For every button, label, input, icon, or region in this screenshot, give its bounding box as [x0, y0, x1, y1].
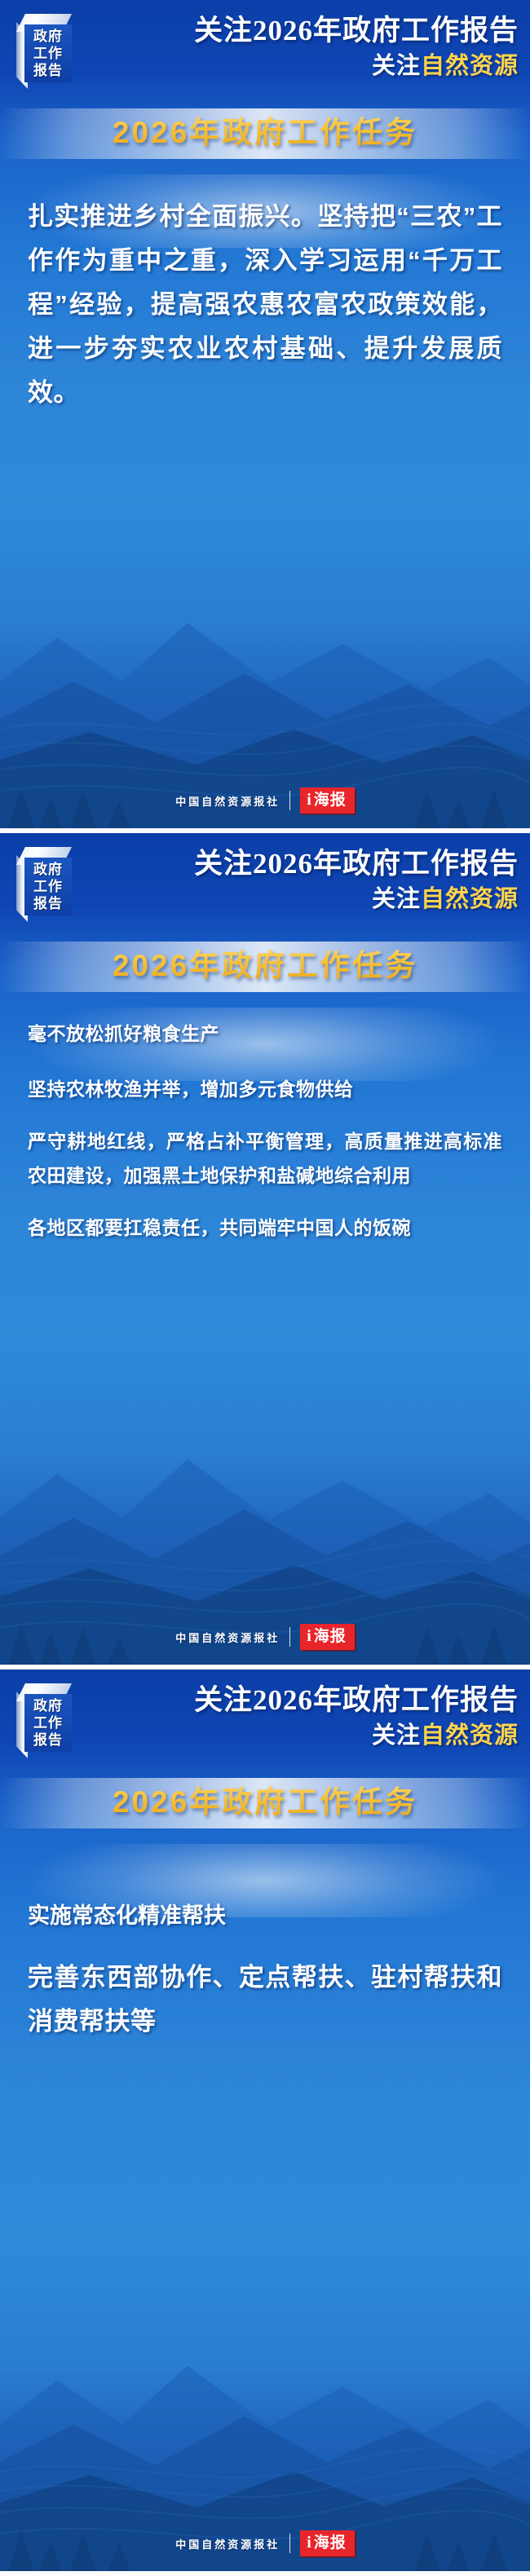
footer-divider: [289, 791, 290, 810]
subtitle-prefix: 关注: [372, 53, 421, 79]
body-paragraph: 严守耕地红线，严格占补平衡管理，高质量推进高标准农田建设，加强黑土地保护和盐碱地…: [28, 1124, 502, 1193]
poster-body-3: 实施常态化精准帮扶 完善东西部协作、定点帮扶、驻村帮扶和消费帮扶等: [0, 1832, 530, 2044]
logo-line-1: 政府: [33, 862, 63, 878]
page-title: 关注2026年政府工作报告: [130, 13, 519, 49]
gold-banner: 2026年政府工作任务: [0, 1775, 530, 1832]
poster-header: 政府 工作 报告 关注2026年政府工作报告 关注自然资源: [0, 0, 530, 86]
report-logo-tag: 政府 工作 报告: [16, 1683, 72, 1752]
badge-i-letter: i: [307, 2535, 312, 2551]
header-titles: 关注2026年政府工作报告 关注自然资源: [130, 13, 519, 82]
badge-label: 海报: [314, 792, 347, 808]
poster-footer: 中国自然资源报社 i海报: [0, 1624, 530, 1650]
subtitle-highlight: 自然资源: [421, 1722, 519, 1749]
subtitle-highlight: 自然资源: [421, 886, 519, 912]
footer-divider: [289, 1627, 290, 1647]
logo-line-2: 工作: [33, 879, 63, 895]
footer-source: 中国自然资源报社: [175, 793, 280, 809]
logo-line-3: 报告: [33, 896, 63, 912]
poster-panel-3: 政府 工作 报告 关注2026年政府工作报告 关注自然资源 2026年政府工作任…: [0, 1670, 530, 2571]
logo-front-face: 政府 工作 报告: [24, 858, 72, 915]
poster-header: 政府 工作 报告 关注2026年政府工作报告 关注自然资源: [0, 1670, 530, 1755]
poster-body-2: 毫不放松抓好粮食生产 坚持农林牧渔并举，增加多元食物供给 严守耕地红线，严格占补…: [0, 995, 530, 1245]
report-logo-tag: 政府 工作 报告: [16, 847, 72, 915]
page-title: 关注2026年政府工作报告: [130, 1683, 519, 1718]
badge-i-letter: i: [307, 792, 312, 808]
ihaibao-badge: i海报: [300, 1624, 355, 1650]
gold-banner-text: 2026年政府工作任务: [0, 105, 530, 161]
page-subtitle: 关注自然资源: [130, 884, 519, 915]
poster-footer: 中国自然资源报社 i海报: [0, 2530, 530, 2556]
body-paragraph: 坚持农林牧渔并举，增加多元食物供给: [28, 1072, 502, 1106]
poster-panel-1: 政府 工作 报告 关注2026年政府工作报告 关注自然资源 2026年政府工作任…: [0, 0, 530, 828]
page-title: 关注2026年政府工作报告: [130, 846, 519, 882]
body-heading: 毫不放松抓好粮食生产: [28, 1017, 502, 1051]
logo-line-1: 政府: [33, 29, 63, 45]
badge-i-letter: i: [307, 1629, 312, 1644]
page-subtitle: 关注自然资源: [130, 51, 519, 82]
logo-line-2: 工作: [33, 1715, 63, 1731]
poster-panel-2: 政府 工作 报告 关注2026年政府工作报告 关注自然资源 2026年政府工作任…: [0, 833, 530, 1665]
logo-front-face: 政府 工作 报告: [24, 1694, 72, 1752]
logo-line-3: 报告: [33, 1732, 63, 1749]
subtitle-prefix: 关注: [372, 1722, 421, 1749]
body-paragraph: 完善东西部协作、定点帮扶、驻村帮扶和消费帮扶等: [28, 1956, 502, 2044]
logo-line-1: 政府: [33, 1698, 63, 1714]
badge-label: 海报: [314, 2535, 347, 2551]
subtitle-prefix: 关注: [372, 886, 421, 912]
body-heading: 实施常态化精准帮扶: [28, 1897, 502, 1934]
page-subtitle: 关注自然资源: [130, 1720, 519, 1751]
footer-divider: [289, 2534, 290, 2553]
footer-source: 中国自然资源报社: [175, 1630, 280, 1645]
header-titles: 关注2026年政府工作报告 关注自然资源: [130, 1683, 519, 1751]
report-logo-tag: 政府 工作 报告: [16, 14, 72, 82]
poster-body-1: 扎实推进乡村全面振兴。坚持把“三农”工作作为重中之重，深入学习运用“千万工程”经…: [0, 162, 530, 415]
logo-line-3: 报告: [33, 63, 63, 79]
ihaibao-badge: i海报: [300, 2530, 355, 2556]
ihaibao-badge: i海报: [300, 787, 355, 814]
badge-label: 海报: [314, 1629, 347, 1644]
gold-banner: 2026年政府工作任务: [0, 938, 530, 995]
logo-front-face: 政府 工作 报告: [24, 24, 72, 82]
header-titles: 关注2026年政府工作报告 关注自然资源: [130, 846, 519, 915]
body-paragraph: 扎实推进乡村全面振兴。坚持把“三农”工作作为重中之重，深入学习运用“千万工程”经…: [28, 195, 502, 415]
body-paragraph: 各地区都要扛稳责任，共同端牢中国人的饭碗: [28, 1211, 502, 1245]
gold-banner: 2026年政府工作任务: [0, 105, 530, 162]
poster-header: 政府 工作 报告 关注2026年政府工作报告 关注自然资源: [0, 833, 530, 919]
poster-footer: 中国自然资源报社 i海报: [0, 787, 530, 814]
footer-source: 中国自然资源报社: [175, 2536, 280, 2552]
gold-banner-text: 2026年政府工作任务: [0, 1775, 530, 1830]
logo-line-2: 工作: [33, 46, 63, 62]
gold-banner-text: 2026年政府工作任务: [0, 938, 530, 994]
subtitle-highlight: 自然资源: [421, 53, 519, 79]
